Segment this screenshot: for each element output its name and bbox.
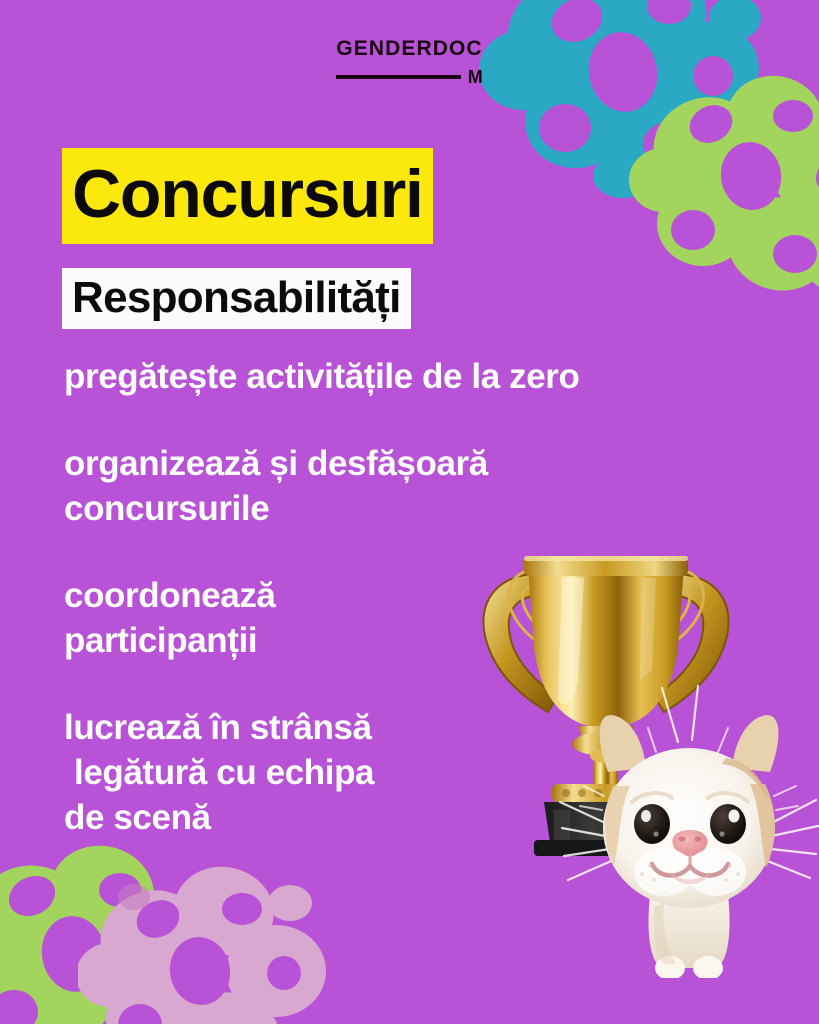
brand-wordmark: GENDERDOC <box>336 38 482 59</box>
pink-flower-blob-icon <box>78 863 328 1024</box>
section-subtitle: Responsabilități <box>72 271 401 325</box>
poster-canvas: GENDERDOC M Concursuri Responsabilități … <box>0 0 819 1024</box>
page-title: Concursuri <box>72 154 423 234</box>
list-item-line: organizează și desfășoară <box>64 441 764 486</box>
brand-divider-rule <box>336 75 460 79</box>
page-title-highlight: Concursuri <box>62 148 433 244</box>
list-item-line: pregătește activitățile de la zero <box>64 354 764 399</box>
green-flower-blob-icon <box>627 72 819 307</box>
brand-logo: GENDERDOC M <box>0 38 819 86</box>
list-item: pregătește activitățile de la zero <box>64 354 764 399</box>
list-item-line: concursurile <box>64 486 764 531</box>
teal-flower-blob-icon <box>473 0 773 218</box>
brand-rule-row: M <box>336 68 482 86</box>
brand-sub-letter: M <box>468 68 483 86</box>
list-item: organizează și desfășoară concursurile <box>64 441 764 531</box>
smiling-cat-photo <box>558 676 819 978</box>
section-subtitle-highlight: Responsabilități <box>62 268 411 329</box>
